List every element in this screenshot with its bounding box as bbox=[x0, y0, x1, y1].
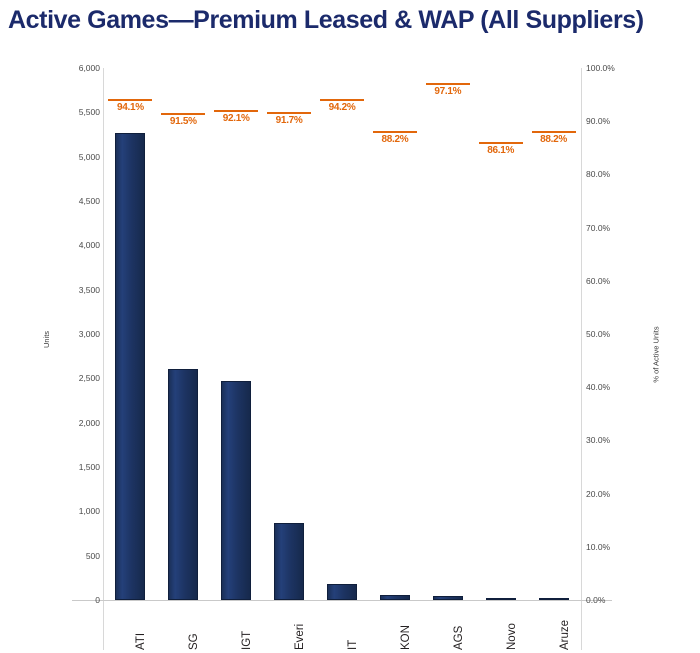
x-axis-label-aruze: Aruze bbox=[559, 620, 571, 650]
y-tick-right: 70.0% bbox=[586, 223, 610, 233]
y-tick-right: 90.0% bbox=[586, 116, 610, 126]
percent-label: 92.1% bbox=[223, 113, 250, 124]
y-tick-right: 100.0% bbox=[586, 63, 615, 73]
percent-label: 97.1% bbox=[434, 86, 461, 97]
x-axis-category-labels: ATISGIGTEveriITKONAGSNovoAruze bbox=[104, 606, 580, 653]
y-tick-left: 5,500 bbox=[79, 107, 100, 117]
bar-it[interactable] bbox=[327, 584, 357, 600]
percent-dash bbox=[373, 131, 417, 133]
x-axis-label-kon: KON bbox=[400, 625, 412, 650]
bar-column[interactable] bbox=[539, 68, 569, 600]
bar-novo[interactable] bbox=[486, 598, 516, 600]
y-tick-left: 1,000 bbox=[79, 506, 100, 516]
bar-ags[interactable] bbox=[433, 596, 463, 600]
y-tick-left: 3,500 bbox=[79, 285, 100, 295]
x-axis-label-ati: ATI bbox=[135, 633, 147, 650]
x-axis-label-igt: IGT bbox=[241, 631, 253, 650]
percent-label: 86.1% bbox=[487, 145, 514, 156]
bar-column[interactable] bbox=[327, 68, 357, 600]
percent-marker[interactable]: 94.1% bbox=[108, 99, 152, 113]
bar-everi[interactable] bbox=[274, 523, 304, 600]
y-tick-right: 60.0% bbox=[586, 276, 610, 286]
y-axis-left-ticks: 6,0005,5005,0004,5004,0003,5003,0002,500… bbox=[54, 62, 100, 607]
bar-column[interactable] bbox=[168, 68, 198, 600]
y-tick-right: 40.0% bbox=[586, 382, 610, 392]
bar-aruze[interactable] bbox=[539, 598, 569, 600]
percent-label: 94.2% bbox=[329, 102, 356, 113]
y-tick-left: 0 bbox=[95, 595, 100, 605]
percent-label: 88.2% bbox=[381, 134, 408, 145]
percent-marker[interactable]: 92.1% bbox=[214, 110, 258, 124]
plot-area: 94.1%91.5%92.1%91.7%94.2%88.2%97.1%86.1%… bbox=[104, 68, 580, 600]
y-axis-right-ticks: 100.0%90.0%80.0%70.0%60.0%50.0%40.0%30.0… bbox=[586, 62, 646, 607]
y-tick-left: 6,000 bbox=[79, 63, 100, 73]
y-tick-left: 2,000 bbox=[79, 418, 100, 428]
y-tick-right: 80.0% bbox=[586, 169, 610, 179]
percent-label: 88.2% bbox=[540, 134, 567, 145]
percent-marker[interactable]: 97.1% bbox=[426, 83, 470, 97]
y-tick-left: 500 bbox=[86, 551, 100, 561]
y-tick-left: 5,000 bbox=[79, 152, 100, 162]
x-axis-label-novo: Novo bbox=[506, 623, 518, 650]
percent-dash bbox=[320, 99, 364, 101]
y-tick-right: 50.0% bbox=[586, 329, 610, 339]
bar-chart-figure: 6,0005,5005,0004,5004,0003,5003,0002,500… bbox=[0, 50, 700, 653]
page-title: Active Games—Premium Leased & WAP (All S… bbox=[8, 6, 692, 35]
bar-column[interactable] bbox=[221, 68, 251, 600]
y-tick-right: 20.0% bbox=[586, 489, 610, 499]
y-tick-left: 3,000 bbox=[79, 329, 100, 339]
y-tick-left: 4,500 bbox=[79, 196, 100, 206]
x-axis-label-it: IT bbox=[347, 640, 359, 650]
percent-marker[interactable]: 86.1% bbox=[479, 142, 523, 156]
y-tick-right: 0.0% bbox=[586, 595, 605, 605]
bar-kon[interactable] bbox=[380, 595, 410, 600]
bar-column[interactable] bbox=[274, 68, 304, 600]
y-tick-right: 10.0% bbox=[586, 542, 610, 552]
bar-ati[interactable] bbox=[115, 133, 145, 600]
percent-marker[interactable]: 91.5% bbox=[161, 113, 205, 127]
percent-label: 91.5% bbox=[170, 116, 197, 127]
bar-column[interactable] bbox=[115, 68, 145, 600]
y-axis-right-title: % of Active Units bbox=[652, 326, 661, 382]
x-axis-label-everi: Everi bbox=[294, 624, 306, 650]
bar-sg[interactable] bbox=[168, 369, 198, 600]
percent-marker[interactable]: 88.2% bbox=[373, 131, 417, 145]
y-tick-left: 1,500 bbox=[79, 462, 100, 472]
percent-label: 94.1% bbox=[117, 102, 144, 113]
y-axis-left-title: Units bbox=[42, 331, 51, 348]
percent-dash bbox=[161, 113, 205, 115]
bar-column[interactable] bbox=[433, 68, 463, 600]
percent-dash bbox=[532, 131, 576, 133]
y-tick-left: 4,000 bbox=[79, 240, 100, 250]
bar-column[interactable] bbox=[380, 68, 410, 600]
percent-dash bbox=[214, 110, 258, 112]
percent-marker[interactable]: 91.7% bbox=[267, 112, 311, 126]
percent-dash bbox=[267, 112, 311, 114]
x-axis-baseline bbox=[72, 600, 612, 601]
y-tick-left: 2,500 bbox=[79, 373, 100, 383]
percent-marker[interactable]: 88.2% bbox=[532, 131, 576, 145]
bar-igt[interactable] bbox=[221, 381, 251, 600]
percent-dash bbox=[108, 99, 152, 101]
x-axis-label-ags: AGS bbox=[453, 626, 465, 650]
percent-label: 91.7% bbox=[276, 115, 303, 126]
percent-marker[interactable]: 94.2% bbox=[320, 99, 364, 113]
y-tick-right: 30.0% bbox=[586, 435, 610, 445]
percent-dash bbox=[426, 83, 470, 85]
x-axis-label-sg: SG bbox=[188, 633, 200, 650]
percent-dash bbox=[479, 142, 523, 144]
